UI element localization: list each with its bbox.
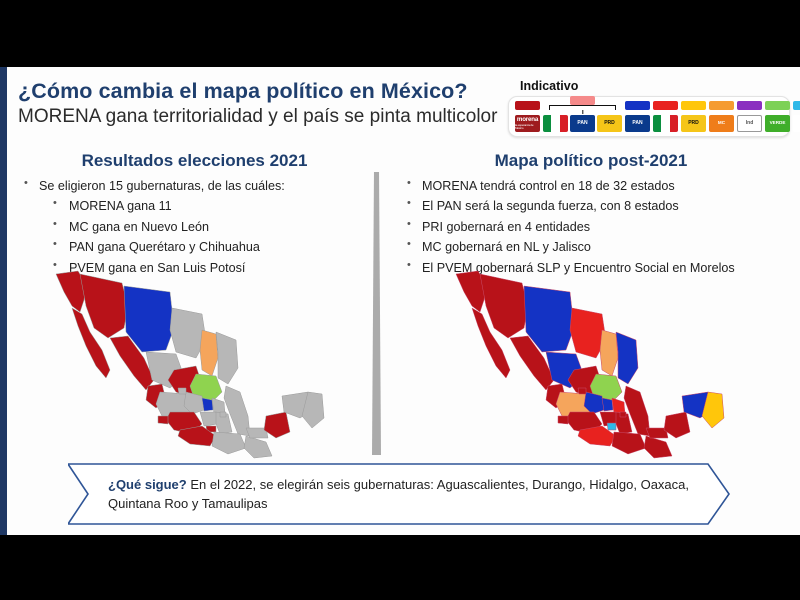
column-divider [372,172,381,455]
legend-swatch-ind [737,101,762,110]
mc-logo-icon: MC [709,115,734,132]
list-item: MORENA gana 11 [39,196,367,216]
legend-label-prd-coalition: PRD [604,121,615,126]
pri-solo-logo-icon [653,115,678,132]
legend-item-mc: MC [709,101,734,132]
legend-label-pan-coalition: PAN [577,121,587,126]
legend-label-pvem: VERDE [770,121,786,126]
banner-text: ¿Qué sigue? En el 2022, se elegirán seis… [108,476,708,514]
legend-label-prd: PRD [688,121,699,126]
prd-logo-icon: PRD [597,115,622,132]
left-column-list: Se eligieron 15 gubernaturas, de las cuá… [22,176,367,278]
legend-swatch-coalition [570,96,595,105]
list-item: MC gobernará en NL y Jalisco [405,237,777,257]
pri-logo-icon [543,115,568,132]
legend: Indicativo morena la esperanza de México [508,79,790,137]
slide-header: ¿Cómo cambia el mapa político en México?… [18,79,498,129]
legend-label-pan: PAN [632,121,642,126]
legend-swatch-pri [653,101,678,110]
legend-item-prd: PRD [681,101,706,132]
left-column-heading: Resultados elecciones 2021 [22,151,367,171]
legend-item-pes: PES [793,101,800,132]
independent-logo-icon: Ind [737,115,762,132]
legend-swatch-mc [709,101,734,110]
legend-swatch-pes [793,101,800,110]
list-item: MORENA tendrá control en 18 de 32 estado… [405,176,777,196]
legend-item-morena: morena la esperanza de México [515,101,540,132]
legend-item-pvem: VERDE [765,101,790,132]
legend-title: Indicativo [520,79,790,93]
banner-lead: ¿Qué sigue? [108,477,187,492]
pan-solo-logo-icon: PAN [625,115,650,132]
list-item: Se eligieron 15 gubernaturas, de las cuá… [22,176,367,278]
right-column-list: MORENA tendrá control en 18 de 32 estado… [405,176,777,278]
page-title: ¿Cómo cambia el mapa político en México? [18,79,498,104]
legend-swatch-pvem [765,101,790,110]
legend-item-ind: Ind [737,101,762,132]
prd-solo-logo-icon: PRD [681,115,706,132]
map-elections-2021 [50,266,360,461]
legend-swatch-prd [681,101,706,110]
morena-logo-icon: morena la esperanza de México [515,115,540,132]
right-column: Mapa político post-2021 MORENA tendrá co… [405,151,777,278]
list-item: MC gana en Nuevo León [39,217,367,237]
legend-sublabel-morena: la esperanza de México [515,124,540,130]
next-steps-banner: ¿Qué sigue? En el 2022, se elegirán seis… [68,463,730,525]
legend-label-mc: MC [718,121,725,126]
slide-left-accent-bar [0,67,7,535]
legend-label-ind: Ind [746,121,754,126]
pes-logo-icon: PES [793,115,800,132]
legend-item-coalition: PAN PRD [543,96,622,132]
coalition-stem-icon [582,110,583,114]
legend-item-pri [653,101,678,132]
list-item: El PAN será la segunda fuerza, con 8 est… [405,196,777,216]
pan-logo-icon: PAN [570,115,595,132]
list-item: PAN gana Querétaro y Chihuahua [39,237,367,257]
presentation-slide: ¿Cómo cambia el mapa político en México?… [0,67,800,535]
legend-item-pan: PAN [625,101,650,132]
left-column: Resultados elecciones 2021 Se eligieron … [22,151,367,278]
legend-swatch-pan [625,101,650,110]
map-political-post-2021 [450,266,760,461]
banner-body: En el 2022, se elegirán seis gubernatura… [108,477,689,511]
pvem-logo-icon: VERDE [765,115,790,132]
list-item: PRI gobernará en 4 entidades [405,217,777,237]
right-column-heading: Mapa político post-2021 [405,151,777,171]
legend-swatch-morena [515,101,540,110]
legend-box: morena la esperanza de México PAN [508,96,790,137]
screenshot-root: ¿Cómo cambia el mapa político en México?… [0,0,800,600]
page-subtitle: MORENA gana territorialidad y el país se… [18,106,498,129]
left-lead-text: Se eligieron 15 gubernaturas, de las cuá… [39,179,285,193]
